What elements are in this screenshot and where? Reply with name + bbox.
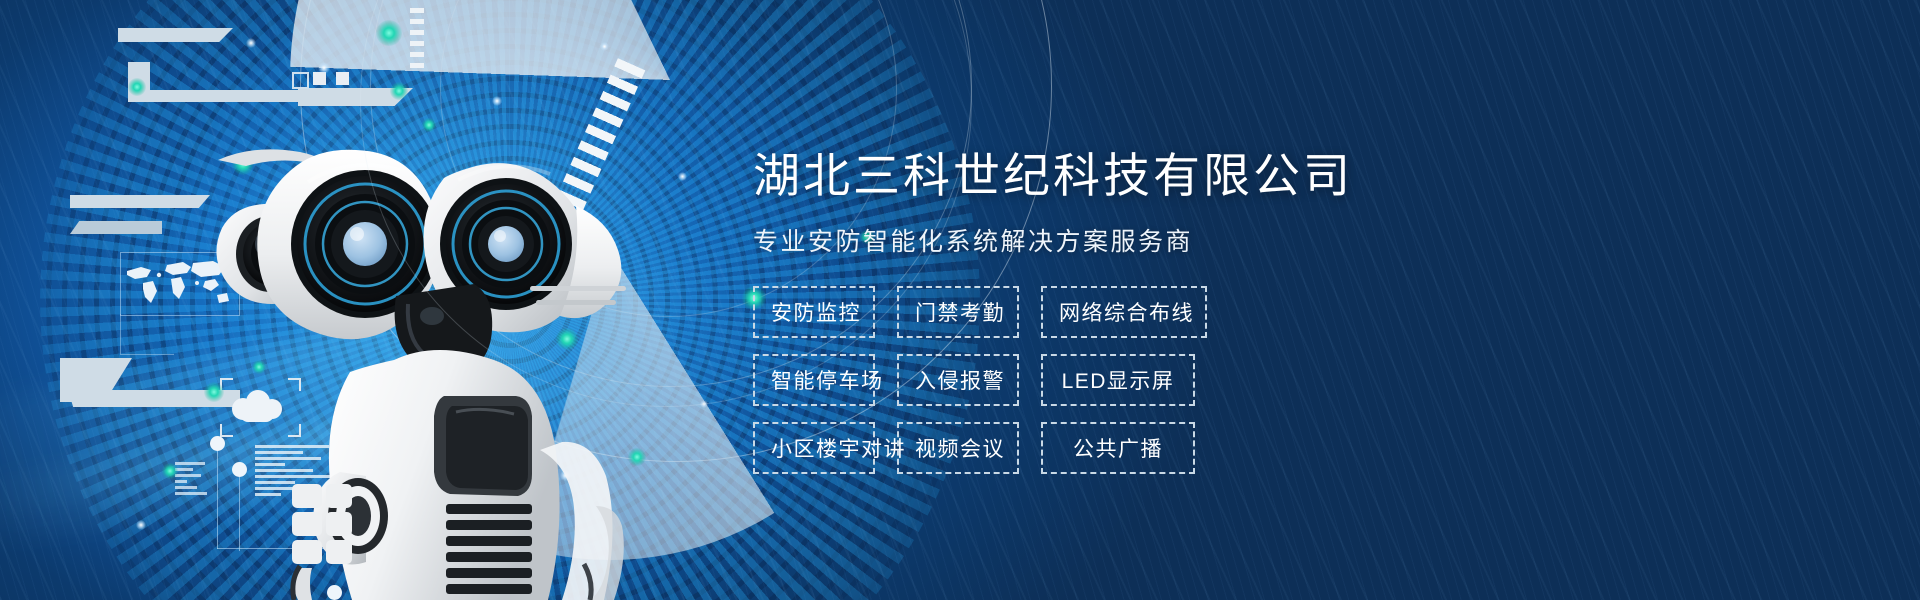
service-tag-smart-parking[interactable]: 智能停车场 [753, 354, 875, 406]
service-tag-network-cabling[interactable]: 网络综合布线 [1041, 286, 1207, 338]
service-tag-security-monitoring[interactable]: 安防监控 [753, 286, 875, 338]
banner-content: 湖北三科世纪科技有限公司 专业安防智能化系统解决方案服务商 安防监控 门禁考勤 … [753, 150, 1453, 490]
hud-square-outline-icon [292, 72, 309, 89]
glow-dot [318, 62, 330, 74]
service-tag-led-display[interactable]: LED显示屏 [1041, 354, 1195, 406]
hero-banner: 湖北三科世纪科技有限公司 专业安防智能化系统解决方案服务商 安防监控 门禁考勤 … [0, 0, 1920, 600]
hud-connector-line [120, 314, 121, 354]
glow-dot [246, 38, 256, 48]
hud-square-icon [336, 72, 349, 85]
company-subtitle: 专业安防智能化系统解决方案服务商 [753, 222, 1453, 258]
service-tag-row: 安防监控 门禁考勤 网络综合布线 [753, 286, 1453, 338]
service-tag-video-conference[interactable]: 视频会议 [897, 422, 1019, 474]
glow-dot [128, 78, 146, 96]
hud-connector-line [120, 354, 174, 355]
hud-chevron-icon [70, 195, 210, 237]
service-tag-building-intercom[interactable]: 小区楼宇对讲 [753, 422, 875, 474]
hud-bracket-icon [128, 62, 303, 102]
service-tag-access-attendance[interactable]: 门禁考勤 [897, 286, 1019, 338]
glow-dot [162, 463, 178, 479]
company-title: 湖北三科世纪科技有限公司 [753, 150, 1453, 202]
service-tag-public-broadcast[interactable]: 公共广播 [1041, 422, 1195, 474]
glow-dot [136, 520, 146, 530]
service-tag-row: 智能停车场 入侵报警 LED显示屏 [753, 354, 1453, 406]
service-tag-row: 小区楼宇对讲 视频会议 公共广播 [753, 422, 1453, 474]
hud-bracket-top-icon [118, 28, 233, 42]
service-tag-intrusion-alarm[interactable]: 入侵报警 [897, 354, 1019, 406]
service-tag-list: 安防监控 门禁考勤 网络综合布线 智能停车场 入侵报警 LED显示屏 小区楼宇对… [753, 286, 1453, 474]
